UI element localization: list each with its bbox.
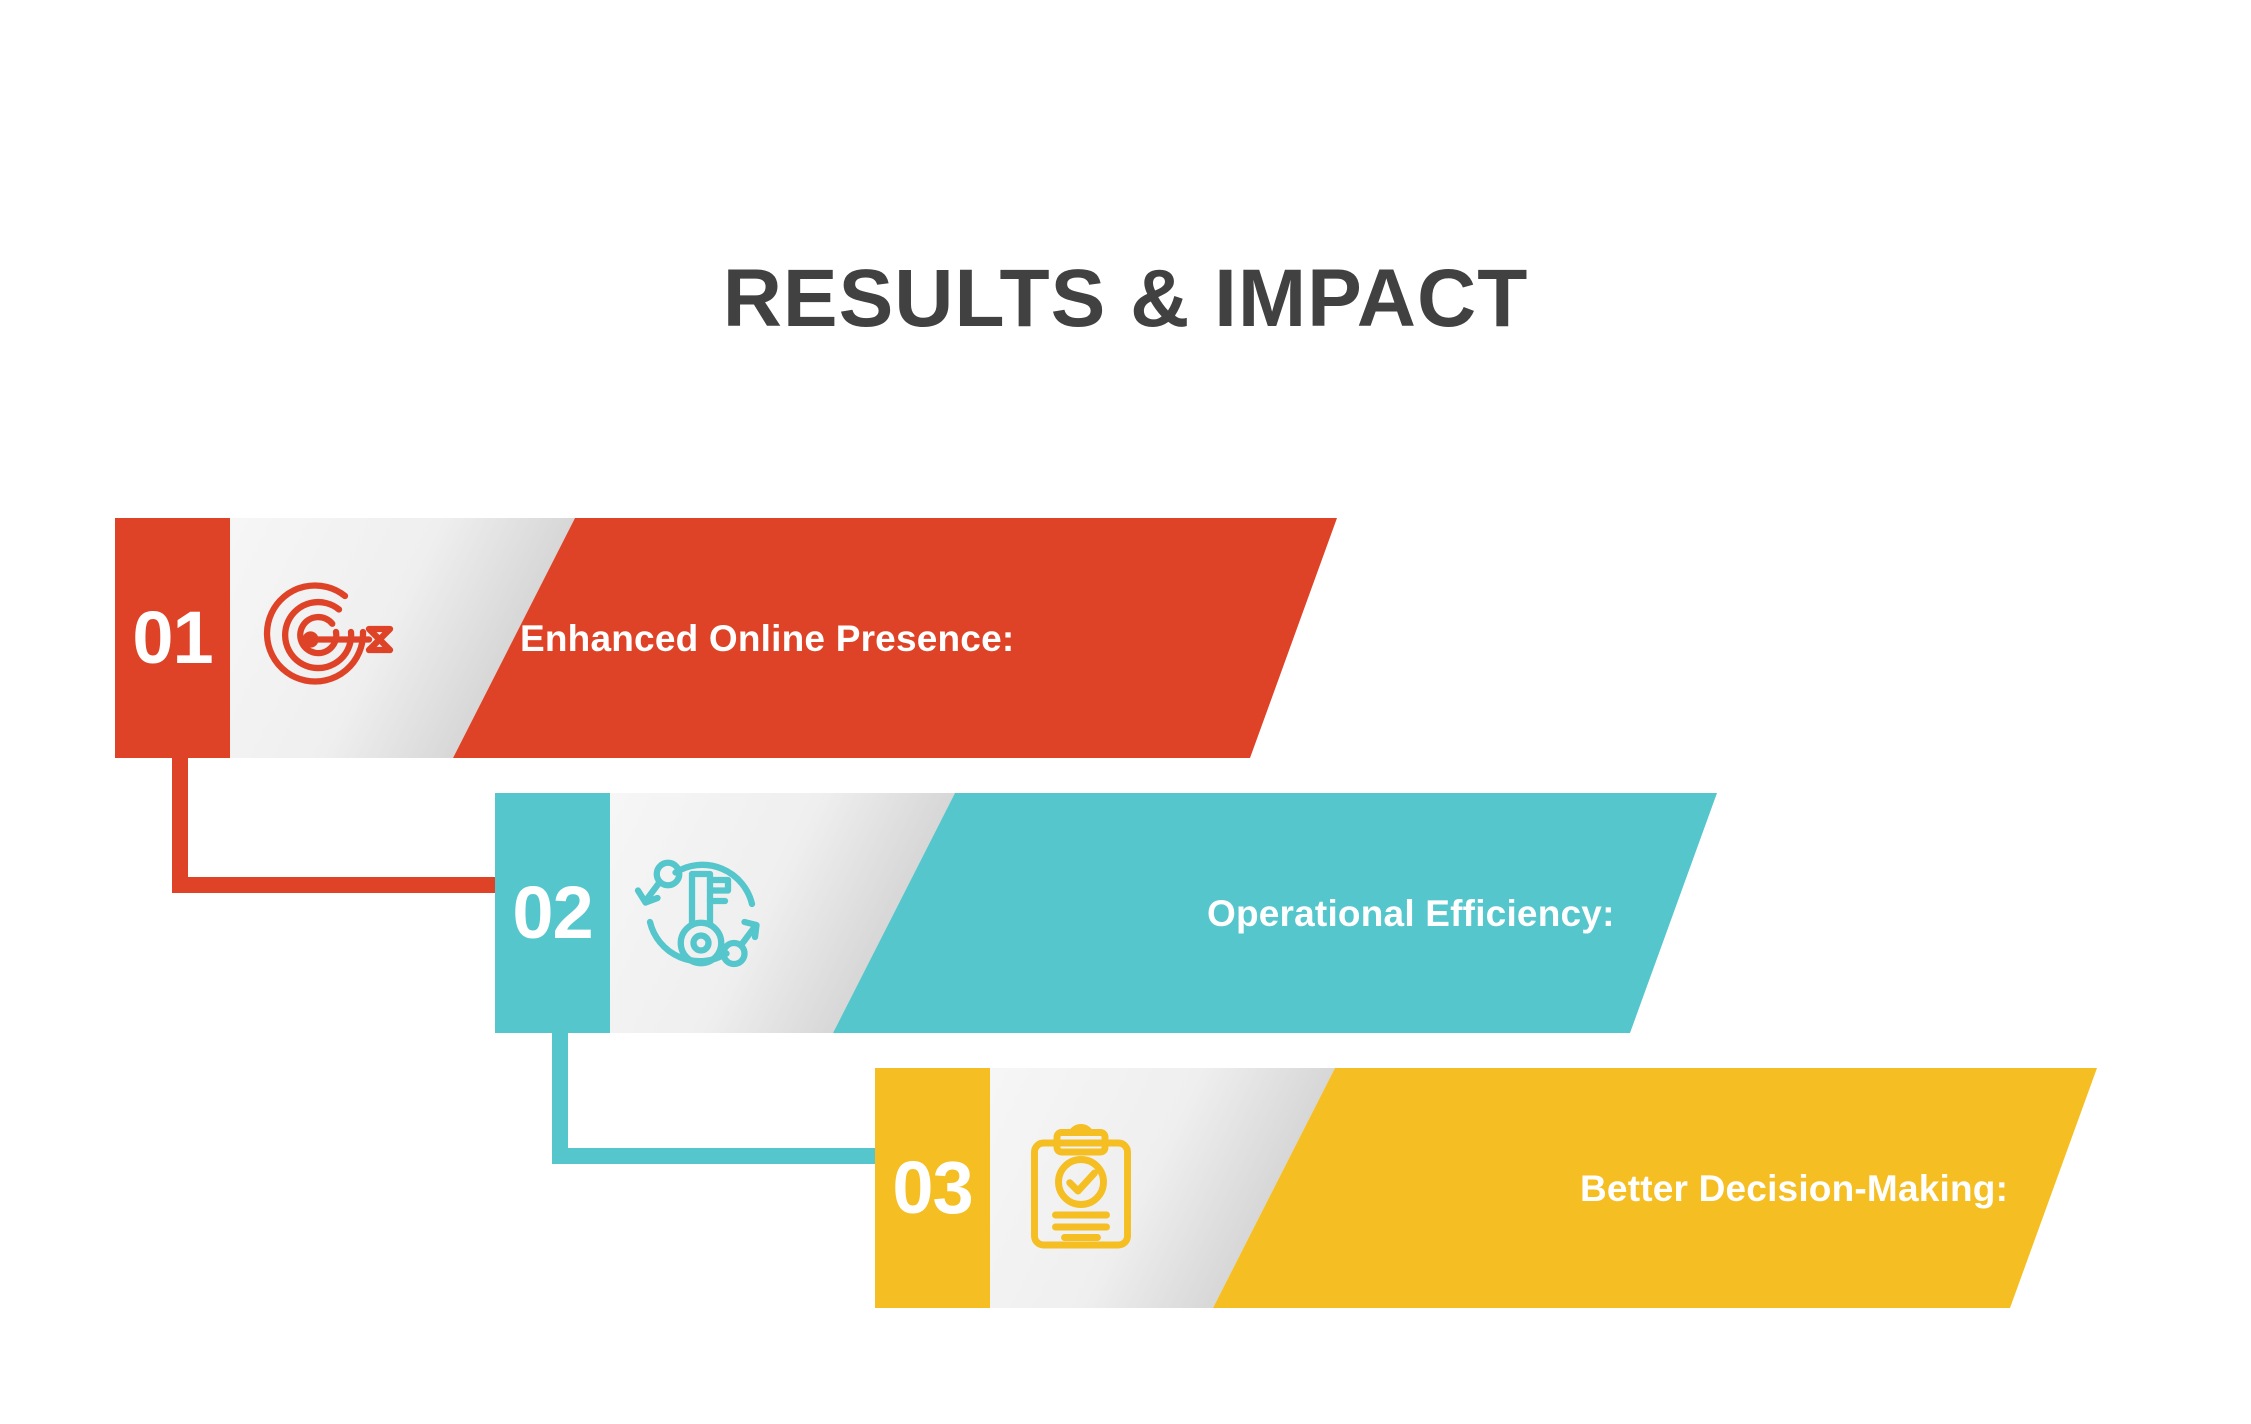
connector-vertical-segment [552, 1028, 568, 1164]
step-label-02: Operational Efficiency: [1207, 793, 1615, 1033]
step-row-02[interactable]: 02 [495, 793, 1735, 1033]
step-label-01: Enhanced Online Presence: [520, 518, 1014, 758]
step-label-03: Better Decision-Making: [1580, 1068, 2008, 1308]
target-arrow-icon [233, 518, 408, 758]
infographic-canvas: RESULTS & IMPACT 01 [0, 0, 2251, 1424]
step-number-02: 02 [495, 793, 610, 1033]
step-number-01: 01 [115, 518, 230, 758]
step-row-03[interactable]: 03 Better Decision-Making: [875, 1068, 2115, 1308]
step-number-03: 03 [875, 1068, 990, 1308]
clipboard-check-icon [993, 1068, 1168, 1308]
page-title: RESULTS & IMPACT [0, 258, 2251, 340]
step-row-01[interactable]: 01 Enhanced Online Presence: [115, 518, 1355, 758]
connector-horizontal-segment [552, 1148, 882, 1164]
connector-vertical-segment [172, 757, 188, 893]
key-cycle-icon [613, 793, 788, 1033]
connector-horizontal-segment [172, 877, 502, 893]
